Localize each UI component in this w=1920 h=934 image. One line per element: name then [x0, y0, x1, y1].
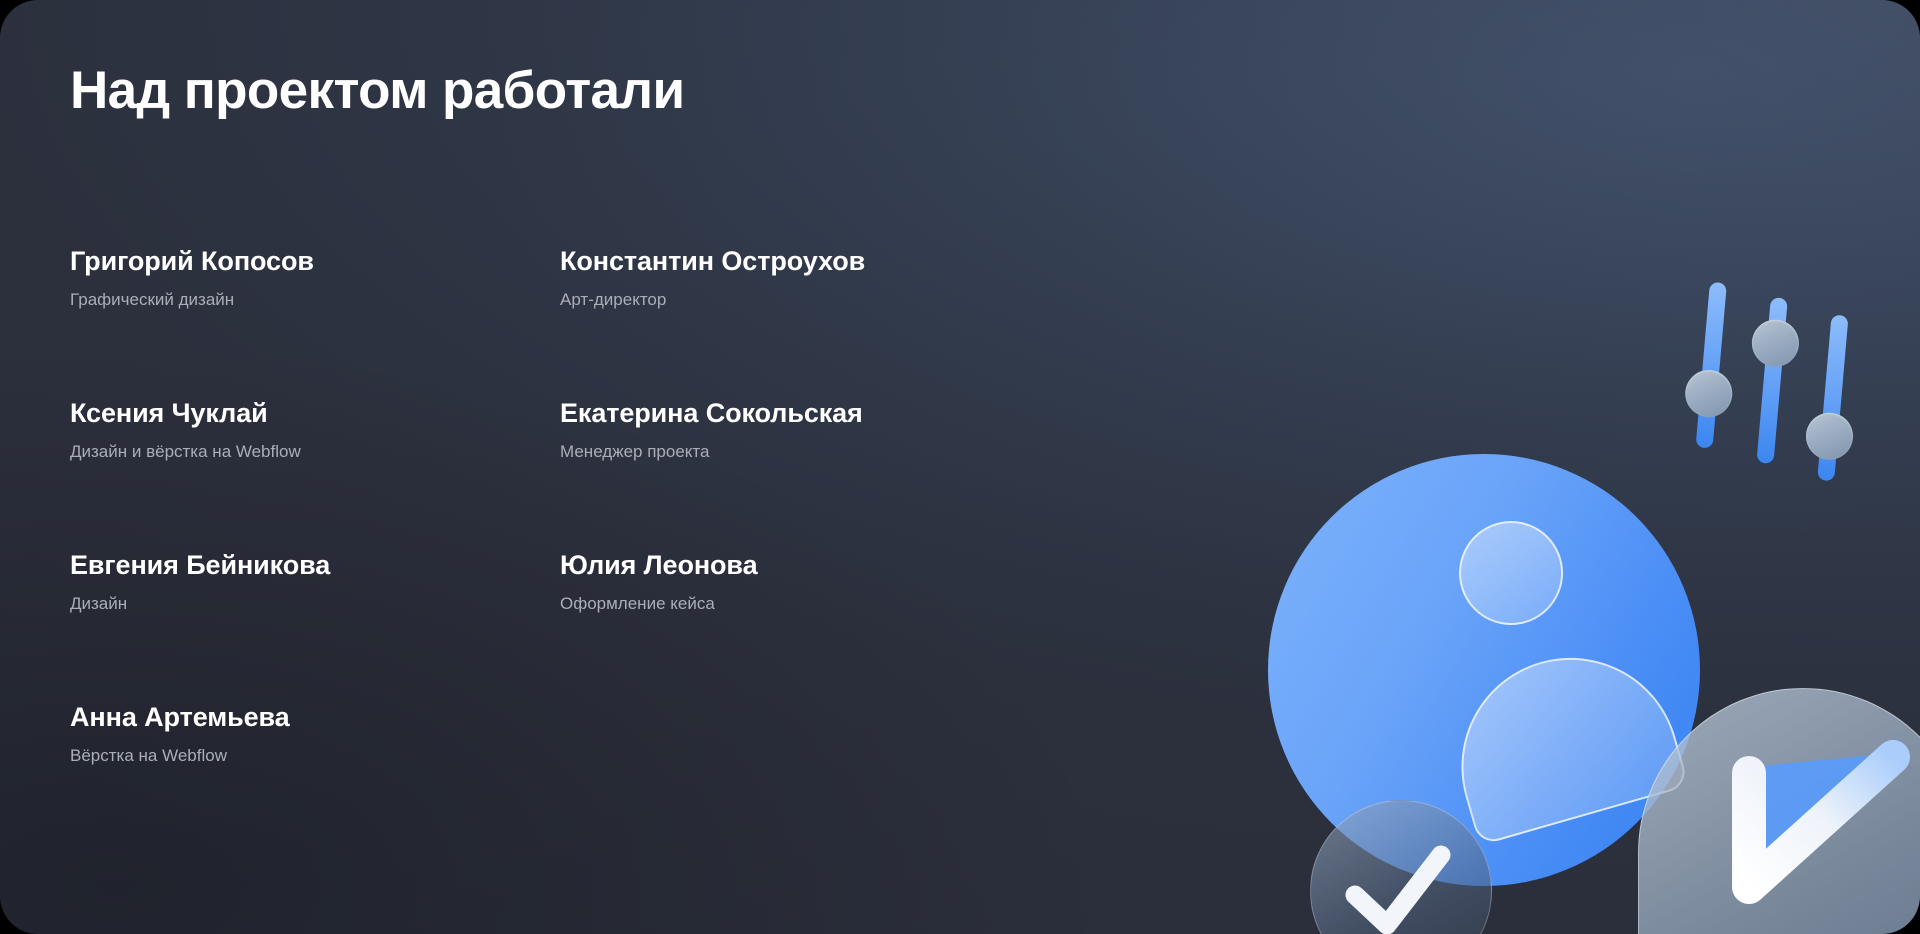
credit-role: Вёрстка на Webflow — [70, 745, 560, 766]
slider-track-bar — [1756, 297, 1787, 464]
credit-role: Оформление кейса — [560, 593, 1050, 614]
credit-name: Анна Артемьева — [70, 701, 560, 733]
credit-entry-2: Константин Остроухов Арт-директор — [560, 245, 1050, 397]
slider-track-bar — [1817, 314, 1848, 481]
avatar-head-shape — [1459, 521, 1563, 625]
credit-role: Дизайн — [70, 593, 560, 614]
check-card-icon — [1638, 688, 1920, 934]
user-avatar-icon — [1268, 454, 1700, 886]
credit-name: Константин Остроухов — [560, 245, 1050, 277]
credit-role: Менеджер проекта — [560, 441, 1050, 462]
credit-name: Юлия Леонова — [560, 549, 1050, 581]
credit-entry-6: Юлия Леонова Оформление кейса — [560, 549, 1050, 701]
credit-entry-8 — [560, 701, 1050, 853]
credit-entry-1: Григорий Копосов Графический дизайн — [70, 245, 560, 397]
credit-name: Григорий Копосов — [70, 245, 560, 277]
credit-role: Графический дизайн — [70, 289, 560, 310]
checkmark-icon — [1723, 737, 1920, 934]
slider-track-bar — [1696, 282, 1727, 449]
credit-entry-7: Анна Артемьева Вёрстка на Webflow — [70, 701, 560, 853]
checkmark-icon — [1345, 831, 1457, 934]
credit-name: Ксения Чуклай — [70, 397, 560, 429]
credit-name: Евгения Бейникова — [70, 549, 560, 581]
page-title: Над проектом работали — [70, 62, 684, 119]
credit-entry-5: Евгения Бейникова Дизайн — [70, 549, 560, 701]
credits-grid: Григорий Копосов Графический дизайн Конс… — [70, 245, 1070, 853]
credit-entry-3: Ксения Чуклай Дизайн и вёрстка на Webflo… — [70, 397, 560, 549]
avatar-body-shape — [1436, 632, 1690, 846]
credits-slide: Над проектом работали Григорий Копосов Г… — [0, 0, 1920, 934]
check-badge-icon — [1310, 800, 1492, 934]
credit-entry-4: Екатерина Сокольская Менеджер проекта — [560, 397, 1050, 549]
credit-role: Дизайн и вёрстка на Webflow — [70, 441, 560, 462]
slider-knob — [1750, 318, 1801, 369]
slider-knob — [1683, 368, 1734, 419]
credit-role: Арт-директор — [560, 289, 1050, 310]
credit-name: Екатерина Сокольская — [560, 397, 1050, 429]
slider-knob — [1804, 411, 1855, 462]
sliders-icon — [1674, 280, 1881, 496]
